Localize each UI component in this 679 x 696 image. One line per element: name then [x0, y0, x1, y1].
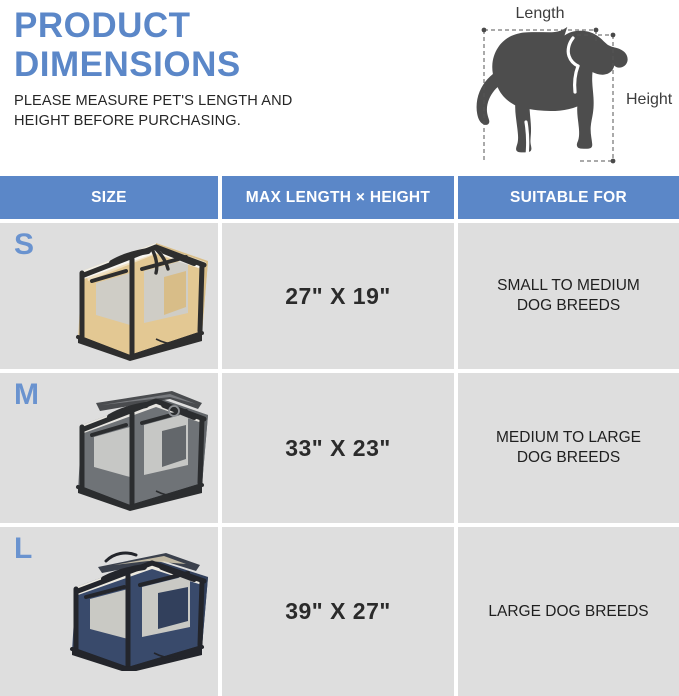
soft-dog-crate-navy-icon — [52, 539, 216, 671]
suitable-line-1: LARGE DOG BREEDS — [488, 603, 648, 620]
dimensions-value: 33" X 23" — [222, 373, 454, 523]
table-row: L — [0, 527, 679, 696]
soft-dog-crate-grey-icon — [52, 379, 216, 511]
length-label: Length — [516, 5, 565, 22]
suitable-cell: SMALL TO MEDIUM DOG BREEDS — [458, 223, 679, 369]
suitable-value: LARGE DOG BREEDS — [458, 527, 679, 696]
dog-measurement-diagram: Length Height — [440, 0, 679, 176]
dog-silhouette-icon — [477, 27, 628, 153]
suitable-value: MEDIUM TO LARGE DOG BREEDS — [458, 373, 679, 523]
size-label: L — [14, 533, 32, 565]
table-row: S — [0, 223, 679, 369]
size-cell: M — [0, 373, 218, 523]
size-label: M — [14, 379, 39, 411]
soft-dog-crate-tan-icon — [52, 229, 216, 361]
table-row: M — [0, 373, 679, 523]
suitable-line-2: DOG BREEDS — [517, 297, 620, 314]
suitable-line-1: MEDIUM TO LARGE — [496, 429, 641, 446]
column-header-suitable: SUITABLE FOR — [458, 176, 679, 219]
dimensions-value: 39" X 27" — [222, 527, 454, 696]
suitable-line-2: DOG BREEDS — [517, 449, 620, 466]
table-header-row: SIZE MAX LENGTH × HEIGHT SUITABLE FOR — [0, 176, 679, 219]
dimensions-cell: 27" X 19" — [222, 223, 454, 369]
column-header-dimensions: MAX LENGTH × HEIGHT — [222, 176, 454, 219]
size-label: S — [14, 229, 34, 261]
size-cell: L — [0, 527, 218, 696]
page-title: PRODUCT DIMENSIONS — [14, 6, 344, 84]
page-title-line-1: PRODUCT — [14, 6, 344, 45]
column-header-size: SIZE — [0, 176, 218, 219]
dimensions-cell: 39" X 27" — [222, 527, 454, 696]
suitable-value: SMALL TO MEDIUM DOG BREEDS — [458, 223, 679, 369]
page-subtitle: PLEASE MEASURE PET'S LENGTH AND HEIGHT B… — [14, 92, 324, 131]
size-chart-table: SIZE MAX LENGTH × HEIGHT SUITABLE FOR S — [0, 176, 679, 696]
header-banner: PRODUCT DIMENSIONS PLEASE MEASURE PET'S … — [0, 0, 679, 176]
page-title-line-2: DIMENSIONS — [14, 45, 344, 84]
suitable-cell: MEDIUM TO LARGE DOG BREEDS — [458, 373, 679, 523]
dimensions-value: 27" X 19" — [222, 223, 454, 369]
suitable-line-1: SMALL TO MEDIUM — [497, 277, 640, 294]
size-cell: S — [0, 223, 218, 369]
suitable-cell: LARGE DOG BREEDS — [458, 527, 679, 696]
dimensions-cell: 33" X 23" — [222, 373, 454, 523]
height-label: Height — [626, 91, 673, 108]
